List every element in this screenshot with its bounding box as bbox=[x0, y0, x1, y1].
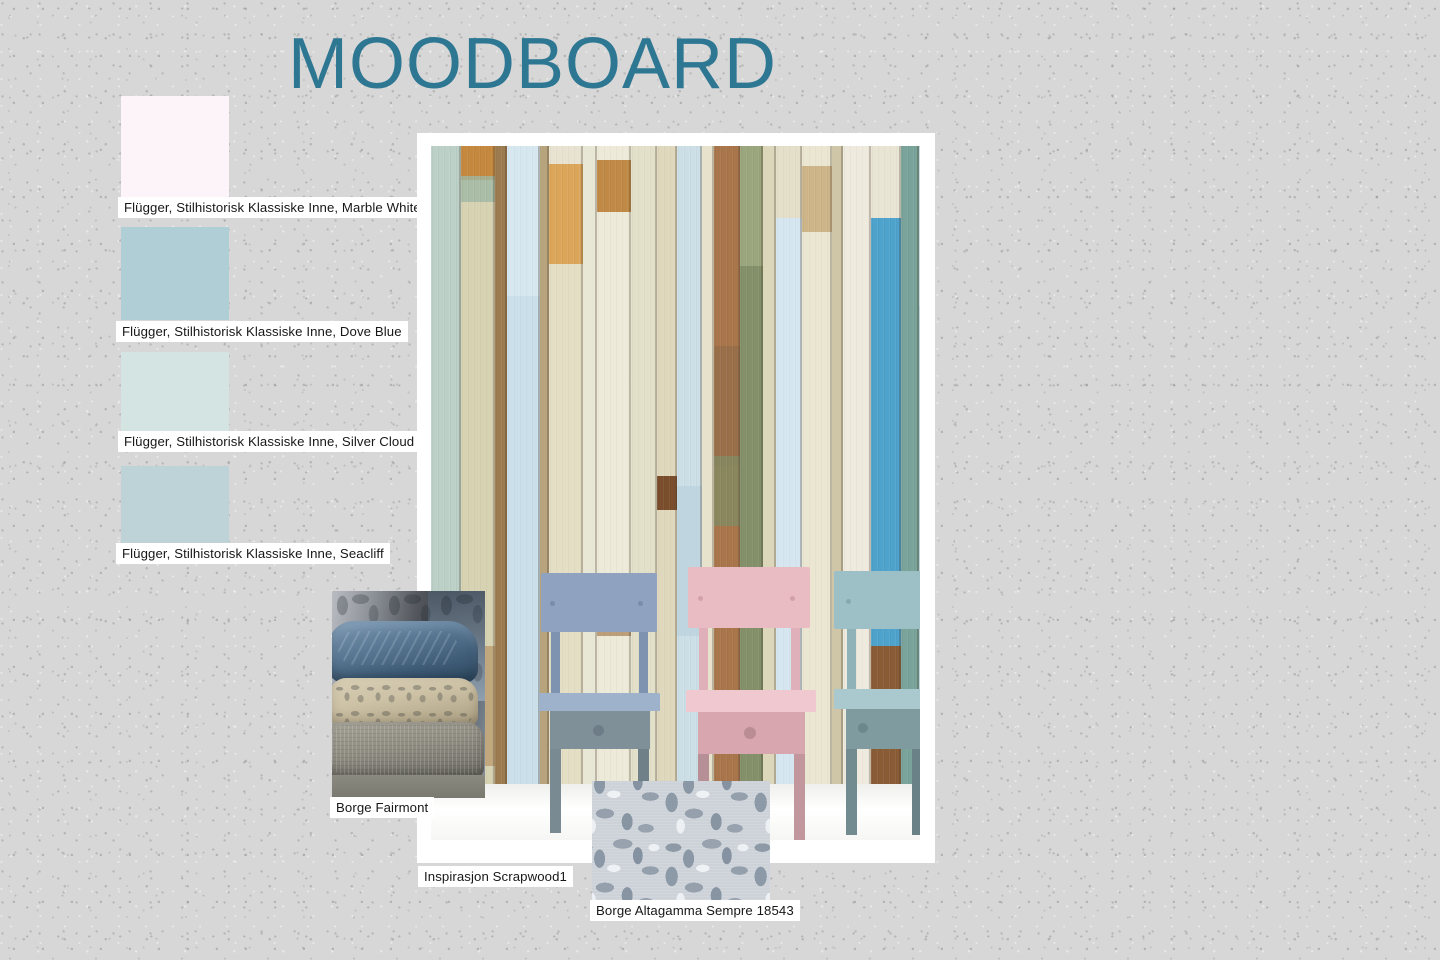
damask-pattern bbox=[592, 781, 770, 900]
color-swatch-silver-cloud bbox=[121, 352, 229, 431]
color-swatch-dove-blue bbox=[121, 227, 229, 320]
moodboard-canvas: MOODBOARD Flügger, Stilhistorisk Klassis… bbox=[0, 0, 1440, 960]
floral-wallpaper-photo bbox=[592, 781, 770, 900]
scrapwood-photo-label: Inspirasjon Scrapwood1 bbox=[418, 866, 573, 887]
color-swatch-label-dove-blue: Flügger, Stilhistorisk Klassiske Inne, D… bbox=[116, 321, 408, 342]
scrapwood-photo bbox=[431, 146, 920, 840]
swatch-color-chip bbox=[121, 96, 229, 197]
color-swatch-marble-white bbox=[121, 96, 229, 197]
color-swatch-label-marble-white: Flügger, Stilhistorisk Klassiske Inne, M… bbox=[118, 197, 427, 218]
color-swatch-label-silver-cloud: Flügger, Stilhistorisk Klassiske Inne, S… bbox=[118, 431, 420, 452]
chair-teal bbox=[834, 571, 920, 840]
color-swatch-label-seacliff: Flügger, Stilhistorisk Klassiske Inne, S… bbox=[116, 543, 390, 564]
pillow-fabric-photo bbox=[332, 591, 485, 798]
page-title: MOODBOARD bbox=[288, 28, 777, 100]
color-swatch-seacliff bbox=[121, 466, 229, 543]
floral-wallpaper-label: Borge Altagamma Sempre 18543 bbox=[590, 900, 800, 921]
scrapwood-photo-frame bbox=[417, 133, 935, 863]
swatch-color-chip bbox=[121, 352, 229, 431]
pillow-fabric-label: Borge Fairmont bbox=[330, 797, 434, 818]
swatch-color-chip bbox=[121, 466, 229, 543]
swatch-color-chip bbox=[121, 227, 229, 320]
